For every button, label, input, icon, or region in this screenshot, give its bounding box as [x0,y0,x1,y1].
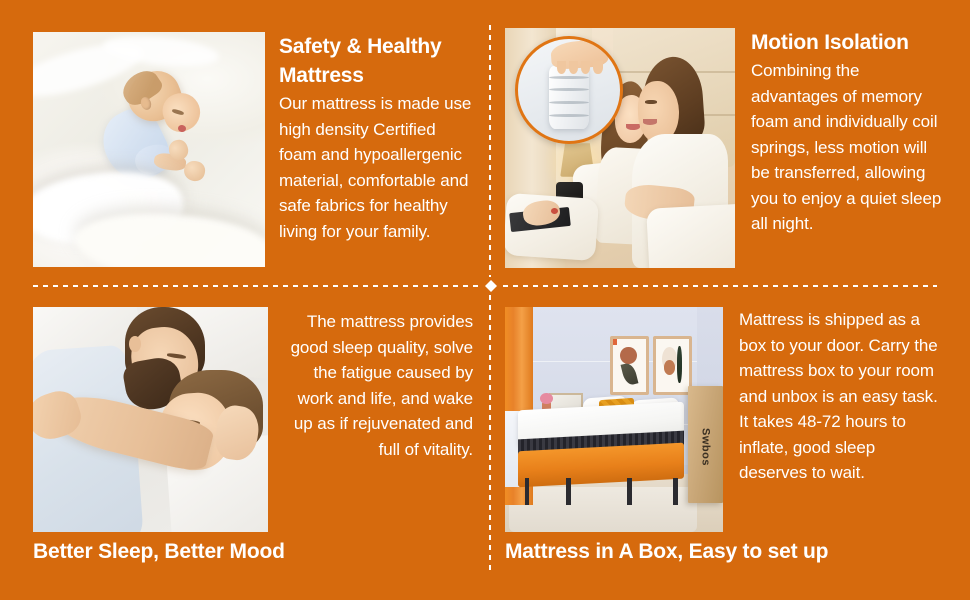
pocket-spring-inset-circle [515,36,623,144]
image-couple-in-bed [505,28,735,268]
image-sleeping-baby [33,32,265,267]
text-column-motion: Motion Isolation Combining the advantage… [735,28,945,270]
panel-heading-motion: Motion Isolation [751,28,945,57]
infographic-board: Safety & Healthy Mattress Our mattress i… [0,0,970,600]
text-column-better-sleep: The mattress provides good sleep quality… [268,307,473,532]
vertical-divider [489,25,491,575]
shipping-box-brand: Swbos [688,424,723,469]
panel-mattress-in-a-box: Swbos Mattress is shipped as a box to yo… [505,307,945,532]
panel-motion-isolation: Motion Isolation Combining the advantage… [505,28,945,270]
panel-safety-healthy-mattress: Safety & Healthy Mattress Our mattress i… [33,32,473,270]
panel-body-mattress-box: Mattress is shipped as a box to your doo… [739,307,945,486]
panel-heading-safety: Safety & Healthy Mattress [279,32,473,90]
panel-body-motion: Combining the advantages of memory foam … [751,58,945,237]
text-column-mattress-box: Mattress is shipped as a box to your doo… [723,307,945,532]
panel-body-safety: Our mattress is made use high density Ce… [279,91,473,244]
wall-art-left [610,336,649,395]
caption-better-sleep: Better Sleep, Better Mood [33,540,285,564]
caption-mattress-in-a-box: Mattress in A Box, Easy to set up [505,540,828,564]
image-bedroom-mattress-box: Swbos [505,307,723,532]
panel-better-sleep: The mattress provides good sleep quality… [33,307,473,532]
wall-art-right [653,336,692,395]
divider-diamond-marker [483,277,499,295]
text-column-safety: Safety & Healthy Mattress Our mattress i… [265,32,473,270]
image-couple-sleeping [33,307,268,532]
panel-body-better-sleep: The mattress provides good sleep quality… [282,307,473,462]
